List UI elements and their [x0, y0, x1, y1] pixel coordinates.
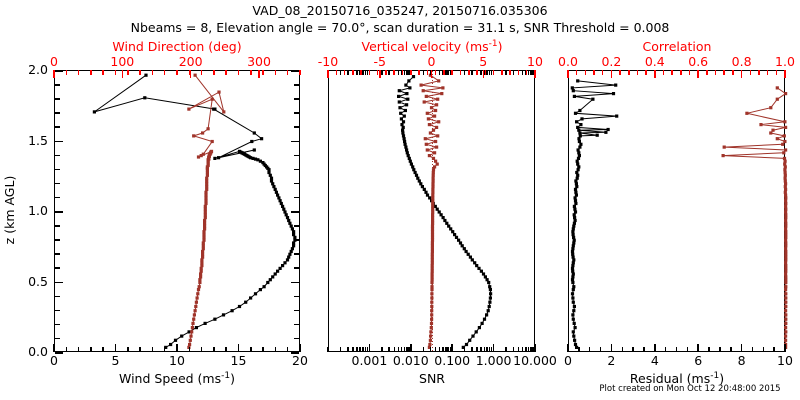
axis-tick	[719, 347, 721, 352]
axis-tick	[66, 70, 68, 75]
axis-tick	[439, 70, 441, 75]
axis-tick	[327, 70, 329, 75]
axis-tick	[55, 310, 60, 312]
axis-tick	[430, 347, 432, 352]
axis-tick	[534, 70, 536, 75]
axis-tick	[176, 347, 178, 352]
axis-tick	[451, 347, 453, 352]
axis-tick	[442, 347, 444, 352]
axis-tick	[66, 347, 68, 352]
axis-tick	[294, 183, 299, 185]
axis-tick	[398, 347, 400, 352]
axis-tick	[773, 347, 775, 352]
axis-tick	[388, 347, 390, 352]
axis-tick	[115, 347, 117, 352]
axis-tick	[164, 70, 166, 75]
plot-area-right	[569, 71, 786, 353]
axis-tick	[611, 347, 613, 352]
axis-tick	[451, 70, 453, 75]
axis-tick	[275, 347, 277, 352]
axis-tick	[294, 296, 299, 298]
axis-tick	[528, 70, 530, 75]
axis-tick	[439, 347, 441, 352]
axis-tick	[732, 70, 734, 75]
axis-tick	[632, 347, 634, 352]
axis-tick	[294, 253, 299, 255]
axis-tick	[55, 98, 60, 100]
axis-tick	[687, 347, 689, 352]
axis-tick	[190, 70, 192, 78]
axis-tick	[294, 169, 299, 171]
axis-tick	[340, 347, 342, 352]
axis-tick	[665, 347, 667, 352]
axis-tick	[532, 347, 534, 352]
axis-tick	[152, 70, 154, 75]
y-tick-label-0.5: 0.5	[28, 275, 48, 288]
axis-tick	[476, 70, 478, 75]
axis-tick	[55, 211, 63, 213]
axis-tick	[352, 70, 354, 75]
panel-residual	[568, 70, 785, 352]
axis-tick	[628, 70, 630, 75]
x-tick-label-left-20: 20	[292, 355, 308, 368]
axis-tick	[528, 347, 530, 352]
axis-tick	[680, 70, 682, 75]
y-tick-label-1.0: 1.0	[28, 205, 48, 218]
x-top-tick-label-right-0.4: 0.4	[645, 56, 665, 69]
axis-tick	[585, 70, 587, 75]
axis-tick	[189, 347, 191, 352]
axis-tick	[55, 70, 63, 72]
axis-tick	[291, 282, 299, 284]
x-tick-label-left-15: 15	[231, 355, 247, 368]
axis-tick	[294, 225, 299, 227]
axis-tick	[645, 70, 647, 75]
axis-tick	[55, 84, 60, 86]
x-top-tick-label-middle--10: -10	[318, 56, 338, 69]
axis-tick	[55, 239, 60, 241]
axis-tick	[505, 70, 507, 75]
axis-tick	[525, 347, 527, 352]
axis-tick	[294, 267, 299, 269]
x-tick-label-right-10: 10	[777, 355, 793, 368]
axis-tick	[379, 70, 381, 78]
axis-tick	[115, 70, 117, 75]
axis-tick	[55, 169, 60, 171]
axis-tick	[360, 70, 362, 75]
axis-tick	[423, 70, 425, 75]
axis-tick	[471, 70, 473, 75]
x-tick-label-middle-10.000: 10.000	[513, 355, 557, 368]
axis-tick	[55, 141, 63, 143]
axis-tick	[741, 70, 743, 75]
panel-snr	[328, 70, 535, 352]
right-panel-top-axis-label: Correlation	[643, 41, 712, 54]
axis-tick	[697, 347, 699, 352]
axis-tick	[356, 347, 358, 352]
x-top-tick-label-right-0.2: 0.2	[601, 56, 621, 69]
axis-tick	[708, 347, 710, 352]
axis-tick	[752, 347, 754, 352]
axis-tick	[347, 347, 349, 352]
axis-tick	[476, 347, 478, 352]
axis-tick	[258, 70, 260, 78]
axis-tick	[460, 70, 462, 75]
series-residual	[571, 79, 619, 349]
axis-tick	[689, 70, 691, 75]
axis-tick	[388, 70, 390, 75]
axis-tick	[509, 70, 511, 75]
axis-tick	[55, 296, 60, 298]
axis-tick	[213, 70, 215, 75]
axis-tick	[294, 84, 299, 86]
axis-tick	[431, 70, 433, 78]
axis-tick	[522, 70, 524, 75]
axis-tick	[480, 347, 482, 352]
axis-tick	[513, 347, 515, 352]
axis-tick	[90, 347, 92, 352]
axis-tick	[201, 70, 203, 75]
axis-tick	[53, 70, 55, 75]
x-top-tick-label-right-0.8: 0.8	[732, 56, 752, 69]
left-panel-bottom-axis-label: Wind Speed (ms-1)	[119, 373, 235, 386]
axis-tick	[55, 338, 60, 340]
axis-tick	[299, 347, 301, 352]
axis-tick	[619, 70, 621, 75]
axis-tick	[53, 347, 55, 352]
axis-tick	[294, 338, 299, 340]
axis-tick	[78, 70, 80, 75]
axis-tick	[763, 347, 765, 352]
axis-tick	[505, 347, 507, 352]
axis-tick	[486, 70, 488, 75]
axis-tick	[225, 70, 227, 75]
axis-tick	[127, 70, 129, 75]
axis-tick	[347, 70, 349, 75]
axis-tick	[435, 70, 437, 75]
axis-tick	[567, 70, 569, 75]
axis-tick	[275, 70, 277, 75]
axis-tick	[697, 70, 699, 75]
axis-tick	[758, 70, 760, 75]
axis-tick	[139, 347, 141, 352]
axis-tick	[381, 347, 383, 352]
axis-tick	[102, 70, 104, 75]
axis-tick	[287, 70, 289, 75]
axis-tick	[435, 347, 437, 352]
axis-tick	[741, 347, 743, 352]
axis-tick	[410, 70, 412, 75]
axis-tick	[55, 112, 60, 114]
axis-tick	[706, 70, 708, 75]
axis-tick	[213, 347, 215, 352]
axis-tick	[723, 70, 725, 75]
axis-tick	[164, 347, 166, 352]
axis-tick	[484, 347, 486, 352]
axis-tick	[464, 70, 466, 75]
y-axis-label: z (km AGL)	[4, 176, 17, 245]
x-tick-label-left-0: 0	[50, 355, 58, 368]
x-tick-label-right-0: 0	[564, 355, 572, 368]
axis-tick	[55, 253, 60, 255]
axis-tick	[55, 225, 60, 227]
axis-tick	[327, 347, 329, 352]
axis-tick	[567, 347, 569, 352]
axis-tick	[291, 141, 299, 143]
axis-tick	[654, 70, 656, 75]
axis-tick	[291, 211, 299, 213]
axis-tick	[404, 347, 406, 352]
axis-tick	[402, 70, 404, 75]
x-top-tick-label-middle--5: -5	[374, 56, 386, 69]
y-tick-label-2.0: 2.0	[28, 64, 48, 77]
axis-tick	[294, 197, 299, 199]
axis-tick	[238, 347, 240, 352]
axis-tick	[394, 347, 396, 352]
axis-tick	[294, 112, 299, 114]
axis-tick	[589, 347, 591, 352]
axis-tick	[493, 70, 495, 75]
axis-tick	[381, 70, 383, 75]
panel-wind	[54, 70, 300, 352]
axis-tick	[377, 70, 379, 75]
axis-tick	[294, 126, 299, 128]
axis-tick	[201, 347, 203, 352]
x-tick-label-left-10: 10	[169, 355, 185, 368]
axis-tick	[225, 347, 227, 352]
axis-tick	[262, 70, 264, 75]
axis-tick	[189, 70, 191, 75]
plot-footer-timestamp: Plot created on Mon Oct 12 20:48:00 2015	[599, 385, 780, 394]
x-tick-label-right-4: 4	[651, 355, 659, 368]
axis-tick	[291, 70, 299, 72]
plot-area-left	[55, 71, 301, 353]
axis-tick	[676, 347, 678, 352]
x-tick-label-middle-1.000: 1.000	[476, 355, 512, 368]
axis-tick	[401, 347, 403, 352]
axis-tick	[398, 70, 400, 75]
axis-tick	[152, 347, 154, 352]
axis-tick	[776, 70, 778, 75]
axis-tick	[294, 324, 299, 326]
axis-tick	[352, 347, 354, 352]
axis-tick	[294, 98, 299, 100]
axis-tick	[287, 347, 289, 352]
y-tick-label-0.0: 0.0	[28, 346, 48, 359]
axis-tick	[602, 70, 604, 75]
series-correlation	[722, 86, 788, 349]
axis-tick	[356, 70, 358, 75]
axis-tick	[637, 70, 639, 75]
axis-tick	[427, 70, 429, 75]
axis-tick	[55, 126, 60, 128]
axis-tick	[493, 347, 495, 352]
axis-tick	[767, 70, 769, 75]
axis-tick	[336, 70, 338, 75]
x-tick-label-right-6: 6	[694, 355, 702, 368]
axis-tick	[501, 70, 503, 75]
axis-tick	[518, 347, 520, 352]
axis-tick	[362, 70, 364, 75]
axis-tick	[526, 70, 528, 75]
axis-tick	[90, 70, 92, 75]
axis-tick	[102, 347, 104, 352]
axis-tick	[393, 70, 395, 75]
axis-tick	[443, 70, 445, 75]
axis-tick	[622, 347, 624, 352]
x-top-tick-label-right-0.6: 0.6	[688, 56, 708, 69]
axis-tick	[369, 70, 371, 75]
axis-tick	[176, 70, 178, 75]
series-wind-direction	[187, 74, 225, 349]
axis-tick	[369, 347, 371, 352]
x-top-tick-label-middle-5: 5	[479, 56, 487, 69]
axis-tick	[654, 347, 656, 352]
figure-title-line1: VAD_08_20150716_035247, 20150716.035306	[252, 5, 547, 18]
x-top-tick-label-left-300: 300	[247, 56, 271, 69]
axis-tick	[250, 347, 252, 352]
axis-tick	[139, 70, 141, 75]
axis-tick	[522, 347, 524, 352]
plot-area-middle	[329, 71, 536, 353]
x-top-tick-label-left-0: 0	[50, 56, 58, 69]
axis-tick	[784, 347, 786, 352]
axis-tick	[385, 70, 387, 75]
axis-tick	[445, 70, 447, 75]
axis-tick	[593, 70, 595, 75]
x-top-tick-label-right-1.0: 1.0	[775, 56, 795, 69]
x-top-tick-label-left-100: 100	[110, 56, 134, 69]
axis-tick	[55, 183, 60, 185]
axis-tick	[534, 344, 536, 352]
axis-tick	[611, 70, 613, 75]
x-tick-label-middle-0.001: 0.001	[351, 355, 387, 368]
axis-tick	[513, 70, 515, 75]
axis-tick	[299, 70, 301, 75]
axis-tick	[750, 70, 752, 75]
axis-tick	[485, 70, 487, 75]
y-tick-label-1.5: 1.5	[28, 134, 48, 147]
axis-tick	[294, 239, 299, 241]
axis-tick	[671, 70, 673, 75]
axis-tick	[122, 70, 124, 78]
axis-tick	[294, 310, 299, 312]
axis-tick	[55, 267, 60, 269]
axis-tick	[127, 347, 129, 352]
axis-tick	[418, 70, 420, 75]
axis-tick	[294, 155, 299, 157]
x-top-tick-label-middle-10: 10	[527, 56, 543, 69]
axis-tick	[55, 197, 60, 199]
axis-tick	[262, 347, 264, 352]
series-snr	[397, 75, 492, 349]
axis-tick	[250, 70, 252, 75]
x-tick-label-left-5: 5	[112, 355, 120, 368]
axis-tick	[471, 347, 473, 352]
middle-panel-top-axis-label: Vertical velocity (ms-1)	[361, 41, 502, 54]
axis-tick	[464, 347, 466, 352]
axis-tick	[238, 70, 240, 75]
axis-tick	[78, 347, 80, 352]
x-tick-label-middle-0.010: 0.010	[393, 355, 429, 368]
axis-tick	[55, 155, 60, 157]
figure-subtitle-line2: Nbeams = 8, Elevation angle = 70.0°, sca…	[131, 22, 670, 35]
axis-tick	[445, 347, 447, 352]
axis-tick	[600, 347, 602, 352]
axis-tick	[344, 70, 346, 75]
axis-tick	[340, 70, 342, 75]
axis-tick	[663, 70, 665, 75]
axis-tick	[55, 282, 63, 284]
axis-tick	[362, 347, 364, 352]
x-top-tick-label-left-200: 200	[179, 56, 203, 69]
axis-tick	[730, 347, 732, 352]
left-panel-top-axis-label: Wind Direction (deg)	[112, 41, 241, 54]
axis-tick	[423, 347, 425, 352]
axis-tick	[359, 347, 361, 352]
axis-tick	[518, 70, 520, 75]
x-top-tick-label-right-0.0: 0.0	[558, 56, 578, 69]
axis-tick	[643, 347, 645, 352]
x-tick-label-middle-0.100: 0.100	[434, 355, 470, 368]
x-tick-label-right-2: 2	[607, 355, 615, 368]
axis-tick	[404, 70, 406, 75]
axis-tick	[468, 70, 470, 75]
axis-tick	[578, 347, 580, 352]
x-top-tick-label-middle-0: 0	[428, 56, 436, 69]
axis-tick	[784, 70, 786, 75]
axis-tick	[410, 347, 412, 352]
axis-tick	[486, 347, 488, 352]
axis-tick	[576, 70, 578, 75]
axis-tick	[55, 324, 60, 326]
middle-panel-bottom-axis-label: SNR	[419, 373, 445, 386]
axis-tick	[715, 70, 717, 75]
x-tick-label-right-8: 8	[738, 355, 746, 368]
figure-root: VAD_08_20150716_035247, 20150716.035306 …	[0, 0, 800, 400]
